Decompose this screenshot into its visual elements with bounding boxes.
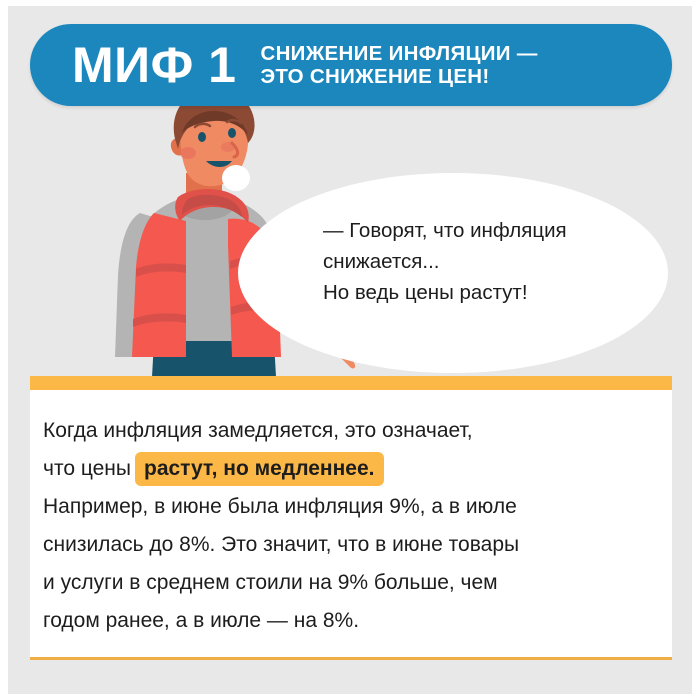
header-banner: МИФ 1 СНИЖЕНИЕ ИНФЛЯЦИИ — ЭТО СНИЖЕНИЕ Ц…: [30, 24, 672, 106]
speech-bubble: — Говорят, что инфляция снижается... Но …: [238, 173, 668, 373]
body-card: Когда инфляция замедляется, это означает…: [30, 390, 672, 660]
highlighted-phrase: растут, но медленнее.: [135, 452, 384, 486]
speech-line-3: Но ведь цены растут!: [323, 277, 643, 308]
body-line-1: Когда инфляция замедляется, это означает…: [43, 412, 661, 450]
myth-number-label: МИФ 1: [72, 40, 236, 90]
body-line-4: снизилась до 8%. Это значит, что в июне …: [43, 526, 661, 564]
speech-bubble-text: — Говорят, что инфляция снижается... Но …: [323, 215, 643, 308]
body-line-5: и услуги в среднем стоили на 9% больше, …: [43, 564, 661, 602]
body-line-2: что ценырастут, но медленнее.: [43, 450, 661, 488]
infographic-poster: МИФ 1 СНИЖЕНИЕ ИНФЛЯЦИИ — ЭТО СНИЖЕНИЕ Ц…: [0, 0, 700, 700]
illustration-area: — Говорят, что инфляция снижается... Но …: [30, 95, 672, 377]
speech-line-2: снижается...: [323, 246, 643, 277]
header-title-line-2: ЭТО СНИЖЕНИЕ ЦЕН!: [260, 65, 537, 88]
header-title-line-1: СНИЖЕНИЕ ИНФЛЯЦИИ —: [260, 42, 537, 65]
body-line-6: годом ранее, а в июле — на 8%.: [43, 602, 661, 640]
speech-line-1: — Говорят, что инфляция: [323, 215, 643, 246]
body-line-2-prefix: что цены: [43, 457, 131, 480]
thought-bubble-dot: [222, 165, 250, 191]
header-title: СНИЖЕНИЕ ИНФЛЯЦИИ — ЭТО СНИЖЕНИЕ ЦЕН!: [260, 42, 537, 89]
body-line-3: Например, в июне была инфляция 9%, а в и…: [43, 488, 661, 526]
body-paragraph: Когда инфляция замедляется, это означает…: [43, 412, 661, 640]
amber-divider-bar: [30, 376, 672, 390]
